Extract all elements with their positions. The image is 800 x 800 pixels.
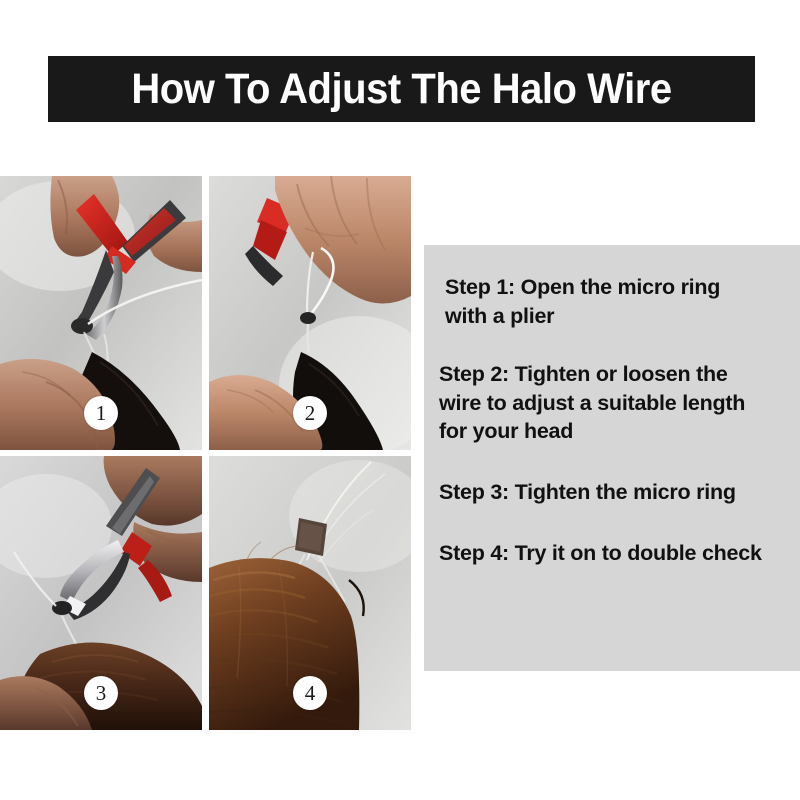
photo-step-4: 4 bbox=[209, 456, 411, 730]
photo-badge: 2 bbox=[293, 396, 327, 430]
photo-step-2: 2 bbox=[209, 176, 411, 450]
photo-step-3: 3 bbox=[0, 456, 202, 730]
photo-badge: 1 bbox=[84, 396, 118, 430]
photo-badge: 3 bbox=[84, 676, 118, 710]
photo-grid: 1 bbox=[0, 176, 411, 730]
photo-badge: 4 bbox=[293, 676, 327, 710]
step-text-3: Step 3: Tighten the micro ring bbox=[434, 478, 796, 507]
title-banner: How To Adjust The Halo Wire bbox=[48, 56, 755, 122]
page-title: How To Adjust The Halo Wire bbox=[131, 68, 671, 111]
step-text-1: Step 1: Open the micro ring with a plier bbox=[434, 273, 796, 330]
photo-step-1: 1 bbox=[0, 176, 202, 450]
steps-panel: Step 1: Open the micro ring with a plier… bbox=[424, 245, 800, 671]
step-text-4: Step 4: Try it on to double check bbox=[434, 539, 796, 568]
step-text-2: Step 2: Tighten or loosen the wire to ad… bbox=[434, 360, 796, 446]
